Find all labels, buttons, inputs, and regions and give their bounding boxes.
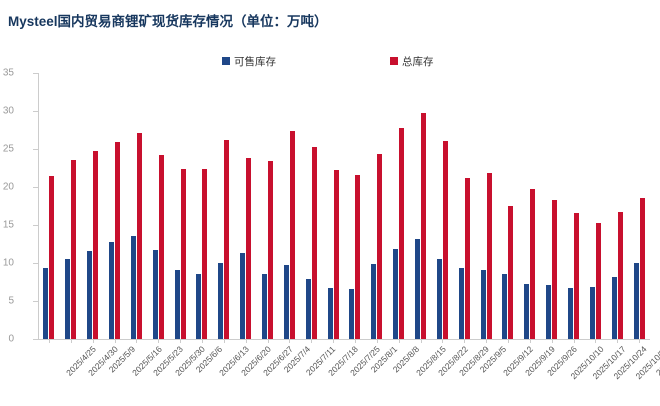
x-axis-tick-mark bbox=[115, 339, 116, 343]
bar-group[interactable] bbox=[590, 73, 601, 339]
bar-group[interactable] bbox=[65, 73, 76, 339]
x-axis-tick-mark bbox=[311, 339, 312, 343]
bar-available-stock[interactable] bbox=[415, 239, 420, 339]
y-axis-tick-label: 0 bbox=[0, 334, 14, 345]
bar-group[interactable] bbox=[393, 73, 404, 339]
bar-available-stock[interactable] bbox=[590, 287, 595, 339]
bar-total-stock[interactable] bbox=[399, 128, 404, 339]
x-axis-tick-mark bbox=[639, 339, 640, 343]
x-axis-tick-mark bbox=[355, 339, 356, 343]
chart-legend: 可售库存总库存 bbox=[0, 53, 660, 69]
legend-label: 可售库存 bbox=[234, 54, 276, 69]
x-axis-tick-mark bbox=[574, 339, 575, 343]
y-axis-tick-label: 35 bbox=[0, 68, 14, 79]
bar-total-stock[interactable] bbox=[224, 140, 229, 339]
bar-group[interactable] bbox=[568, 73, 579, 339]
y-axis-tick-label: 15 bbox=[0, 220, 14, 231]
bar-group[interactable] bbox=[196, 73, 207, 339]
legend-swatch-icon bbox=[222, 57, 230, 65]
bar-available-stock[interactable] bbox=[546, 285, 551, 339]
bar-total-stock[interactable] bbox=[137, 133, 142, 339]
bar-total-stock[interactable] bbox=[421, 113, 426, 339]
bar-group[interactable] bbox=[459, 73, 470, 339]
x-axis-tick-mark bbox=[202, 339, 203, 343]
bar-group[interactable] bbox=[43, 73, 54, 339]
bar-group[interactable] bbox=[131, 73, 142, 339]
bar-available-stock[interactable] bbox=[481, 270, 486, 339]
bar-available-stock[interactable] bbox=[634, 263, 639, 339]
bar-group[interactable] bbox=[634, 73, 645, 339]
y-axis-tick-label: 20 bbox=[0, 182, 14, 193]
bar-available-stock[interactable] bbox=[524, 284, 529, 339]
bar-total-stock[interactable] bbox=[93, 151, 98, 339]
bar-total-stock[interactable] bbox=[71, 160, 76, 339]
x-axis-tick-mark bbox=[399, 339, 400, 343]
bar-available-stock[interactable] bbox=[328, 288, 333, 339]
bar-available-stock[interactable] bbox=[284, 265, 289, 339]
bar-group[interactable] bbox=[87, 73, 98, 339]
legend-total-stock[interactable]: 总库存 bbox=[390, 53, 434, 69]
legend-label: 总库存 bbox=[402, 54, 434, 69]
y-axis-tick-label: 5 bbox=[0, 296, 14, 307]
bar-available-stock[interactable] bbox=[568, 288, 573, 339]
x-axis-line bbox=[38, 339, 650, 340]
x-axis-tick-mark bbox=[158, 339, 159, 343]
bar-total-stock[interactable] bbox=[181, 169, 186, 339]
x-axis-tick-mark bbox=[49, 339, 50, 343]
bar-total-stock[interactable] bbox=[246, 158, 251, 339]
x-axis-tick-mark bbox=[180, 339, 181, 343]
bar-available-stock[interactable] bbox=[393, 249, 398, 339]
bar-total-stock[interactable] bbox=[202, 169, 207, 339]
bar-total-stock[interactable] bbox=[508, 206, 513, 339]
x-axis-tick-mark bbox=[333, 339, 334, 343]
x-axis-tick-mark bbox=[421, 339, 422, 343]
bar-total-stock[interactable] bbox=[574, 213, 579, 339]
bar-available-stock[interactable] bbox=[87, 251, 92, 339]
bar-total-stock[interactable] bbox=[268, 161, 273, 339]
bar-available-stock[interactable] bbox=[175, 270, 180, 339]
bar-total-stock[interactable] bbox=[159, 155, 164, 339]
bar-total-stock[interactable] bbox=[312, 147, 317, 339]
bar-total-stock[interactable] bbox=[334, 170, 339, 339]
bar-total-stock[interactable] bbox=[530, 189, 535, 339]
bar-group[interactable] bbox=[612, 73, 623, 339]
x-axis-tick-mark bbox=[93, 339, 94, 343]
bar-available-stock[interactable] bbox=[131, 236, 136, 339]
bar-group[interactable] bbox=[306, 73, 317, 339]
bar-group[interactable] bbox=[262, 73, 273, 339]
bar-group[interactable] bbox=[175, 73, 186, 339]
chart-container: Mysteel国内贸易商锂矿现货库存情况（单位：万吨） 可售库存总库存 0510… bbox=[0, 0, 660, 406]
bar-total-stock[interactable] bbox=[355, 175, 360, 339]
bar-group[interactable] bbox=[524, 73, 535, 339]
bar-available-stock[interactable] bbox=[153, 250, 158, 339]
bar-total-stock[interactable] bbox=[640, 198, 645, 339]
x-axis-tick-mark bbox=[224, 339, 225, 343]
bar-group[interactable] bbox=[153, 73, 164, 339]
bar-total-stock[interactable] bbox=[443, 141, 448, 339]
bar-available-stock[interactable] bbox=[437, 259, 442, 339]
x-axis-tick-mark bbox=[268, 339, 269, 343]
bar-group[interactable] bbox=[415, 73, 426, 339]
x-axis-tick-mark bbox=[552, 339, 553, 343]
x-axis-tick-mark bbox=[71, 339, 72, 343]
y-axis-tick-label: 30 bbox=[0, 106, 14, 117]
chart-title: Mysteel国内贸易商锂矿现货库存情况（单位：万吨） bbox=[8, 10, 328, 30]
x-axis-tick-mark bbox=[442, 339, 443, 343]
bar-group[interactable] bbox=[240, 73, 251, 339]
bar-total-stock[interactable] bbox=[377, 154, 382, 339]
x-axis-tick-mark bbox=[377, 339, 378, 343]
bar-total-stock[interactable] bbox=[115, 142, 120, 339]
bar-available-stock[interactable] bbox=[306, 279, 311, 339]
x-axis-tick-mark bbox=[595, 339, 596, 343]
bar-group[interactable] bbox=[109, 73, 120, 339]
legend-swatch-icon bbox=[390, 57, 398, 65]
bar-group[interactable] bbox=[328, 73, 339, 339]
bar-available-stock[interactable] bbox=[218, 263, 223, 339]
x-axis-tick-mark bbox=[617, 339, 618, 343]
bar-available-stock[interactable] bbox=[196, 274, 201, 339]
bar-available-stock[interactable] bbox=[371, 264, 376, 339]
plot-area bbox=[38, 73, 650, 339]
bar-group[interactable] bbox=[371, 73, 382, 339]
y-axis-tick-label: 25 bbox=[0, 144, 14, 155]
bar-available-stock[interactable] bbox=[262, 274, 267, 339]
bar-total-stock[interactable] bbox=[465, 178, 470, 339]
bar-group[interactable] bbox=[481, 73, 492, 339]
bar-total-stock[interactable] bbox=[618, 212, 623, 339]
bar-group[interactable] bbox=[349, 73, 360, 339]
y-axis-tick-label: 10 bbox=[0, 258, 14, 269]
bar-available-stock[interactable] bbox=[502, 274, 507, 339]
y-axis-tick-mark bbox=[33, 339, 38, 340]
bar-group[interactable] bbox=[546, 73, 557, 339]
bar-total-stock[interactable] bbox=[49, 176, 54, 339]
legend-available-stock[interactable]: 可售库存 bbox=[222, 53, 276, 69]
x-axis-tick-mark bbox=[136, 339, 137, 343]
bar-available-stock[interactable] bbox=[612, 277, 617, 339]
bar-group[interactable] bbox=[437, 73, 448, 339]
bar-available-stock[interactable] bbox=[240, 253, 245, 339]
bar-available-stock[interactable] bbox=[349, 289, 354, 339]
bar-available-stock[interactable] bbox=[43, 268, 48, 339]
bar-total-stock[interactable] bbox=[596, 223, 601, 339]
x-axis-tick-mark bbox=[530, 339, 531, 343]
x-axis-tick-mark bbox=[486, 339, 487, 343]
bar-available-stock[interactable] bbox=[459, 268, 464, 339]
bar-group[interactable] bbox=[502, 73, 513, 339]
x-axis-tick-mark bbox=[464, 339, 465, 343]
bar-group[interactable] bbox=[218, 73, 229, 339]
x-axis-tick-mark bbox=[289, 339, 290, 343]
x-axis-tick-mark bbox=[508, 339, 509, 343]
bar-available-stock[interactable] bbox=[65, 259, 70, 339]
bar-total-stock[interactable] bbox=[552, 200, 557, 339]
x-axis-tick-mark bbox=[246, 339, 247, 343]
bar-group[interactable] bbox=[284, 73, 295, 339]
bar-total-stock[interactable] bbox=[290, 131, 295, 339]
bar-available-stock[interactable] bbox=[109, 242, 114, 339]
bar-total-stock[interactable] bbox=[487, 173, 492, 339]
